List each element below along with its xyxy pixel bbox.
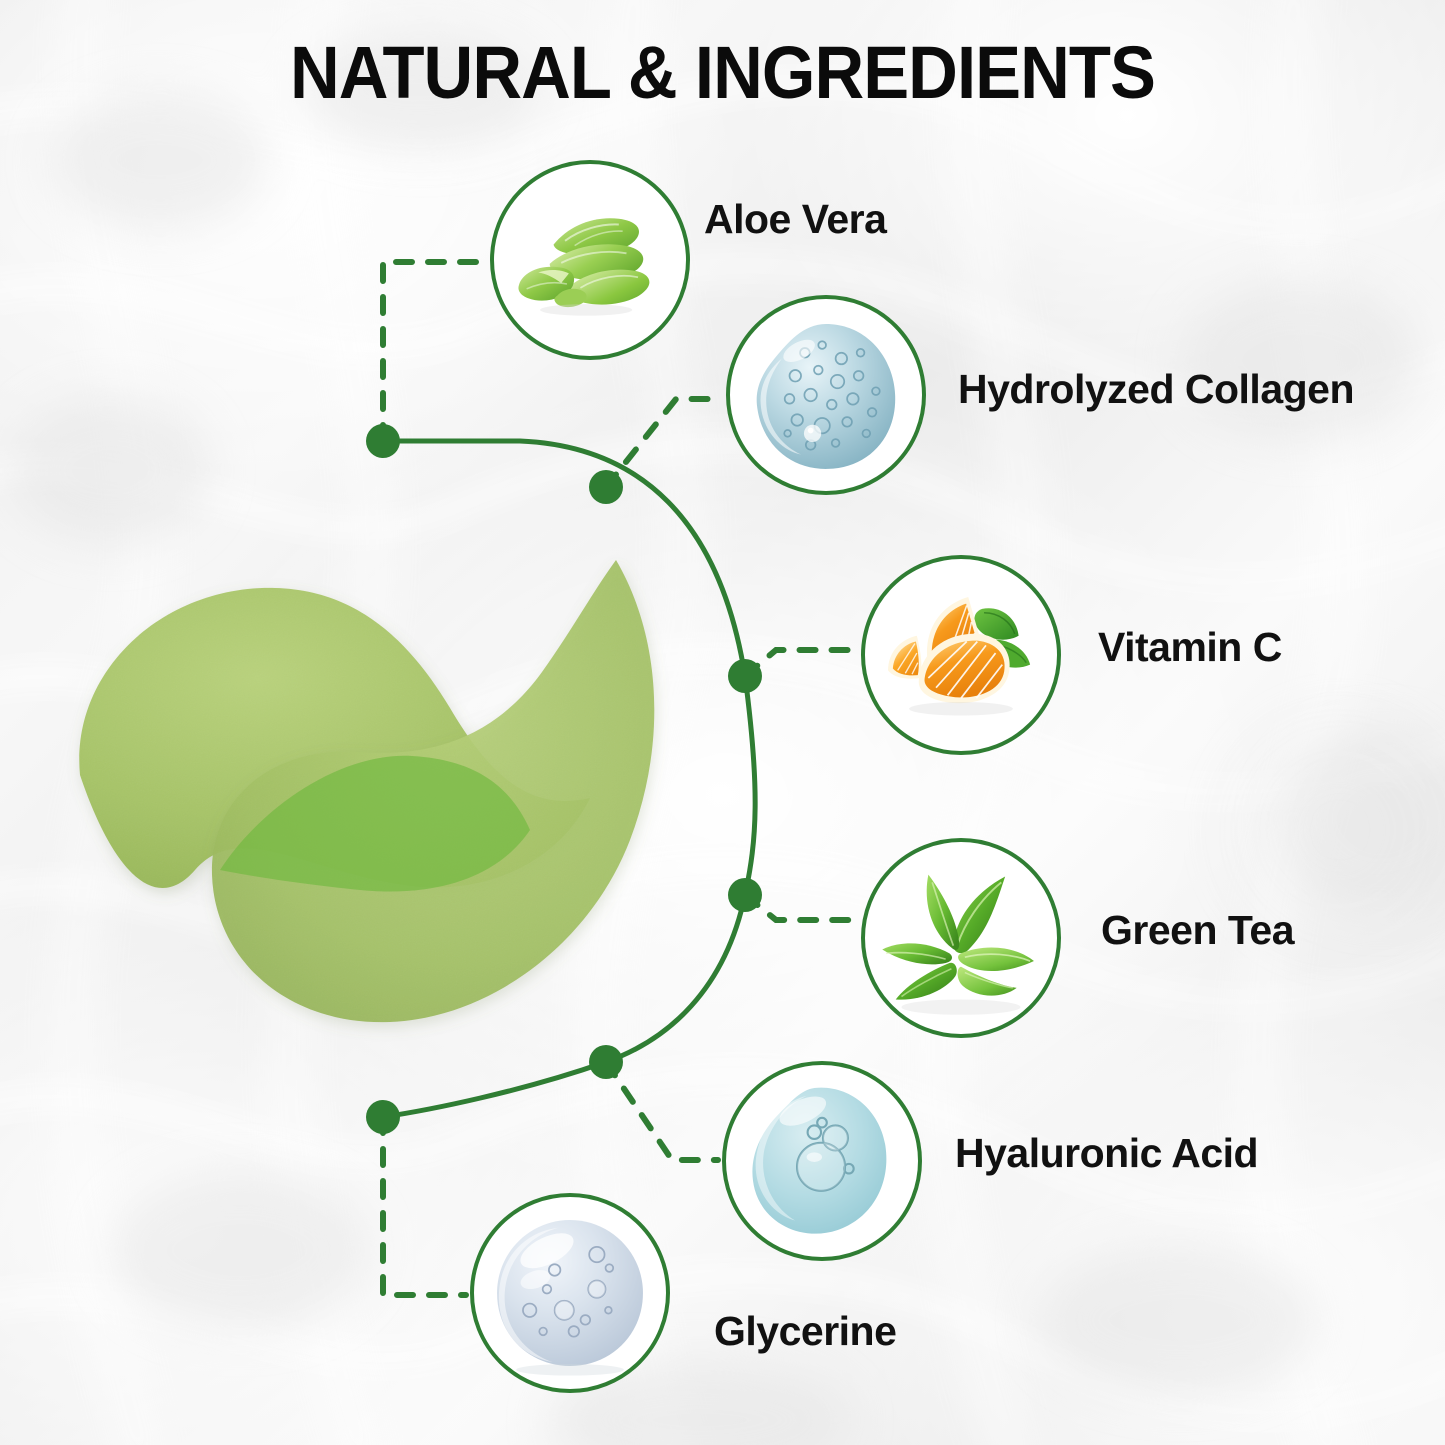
orange-slices-icon [865, 559, 1057, 751]
connector-vitamin-c [745, 650, 857, 676]
ingredient-label-aloe-vera: Aloe Vera [704, 196, 886, 243]
node-dot-vitamin-c [728, 659, 762, 693]
node-dot-glycerine [366, 1100, 400, 1134]
connector-hydrolyzed-collagen [606, 399, 722, 487]
connector-aloe-vera [383, 262, 483, 441]
ingredient-circle-hyaluronic-acid[interactable] [722, 1061, 922, 1261]
eye-patches-product [60, 540, 680, 1060]
node-dot-hydrolyzed-collagen [589, 470, 623, 504]
ingredient-circle-hydrolyzed-collagen[interactable] [726, 295, 926, 495]
ingredient-label-hydrolyzed-collagen: Hydrolyzed Collagen [958, 366, 1354, 413]
ingredient-circle-green-tea[interactable] [861, 838, 1061, 1038]
node-dot-green-tea [728, 878, 762, 912]
eye-patch-pair-graphic [60, 540, 680, 1060]
tea-leaves-icon [865, 842, 1057, 1034]
blue-gel-bubbles-icon [730, 299, 922, 491]
ingredient-label-hyaluronic-acid: Hyaluronic Acid [955, 1130, 1258, 1177]
ingredient-circle-aloe-vera[interactable] [490, 160, 690, 360]
clear-gel-droplet-icon [474, 1197, 666, 1389]
ingredient-circle-vitamin-c[interactable] [861, 555, 1061, 755]
node-dot-aloe-vera [366, 424, 400, 458]
ingredient-label-glycerine: Glycerine [714, 1308, 896, 1355]
ingredient-circle-glycerine[interactable] [470, 1193, 670, 1393]
connector-hyaluronic-acid [606, 1062, 718, 1160]
connector-glycerine [383, 1117, 466, 1295]
pale-blue-gel-blob-icon [726, 1065, 918, 1257]
aloe-vera-slices-icon [494, 164, 686, 356]
page-title: NATURAL & INGREDIENTS [51, 30, 1395, 115]
connector-green-tea [745, 895, 857, 920]
ingredient-label-green-tea: Green Tea [1101, 907, 1294, 954]
ingredient-label-vitamin-c: Vitamin C [1098, 624, 1282, 671]
